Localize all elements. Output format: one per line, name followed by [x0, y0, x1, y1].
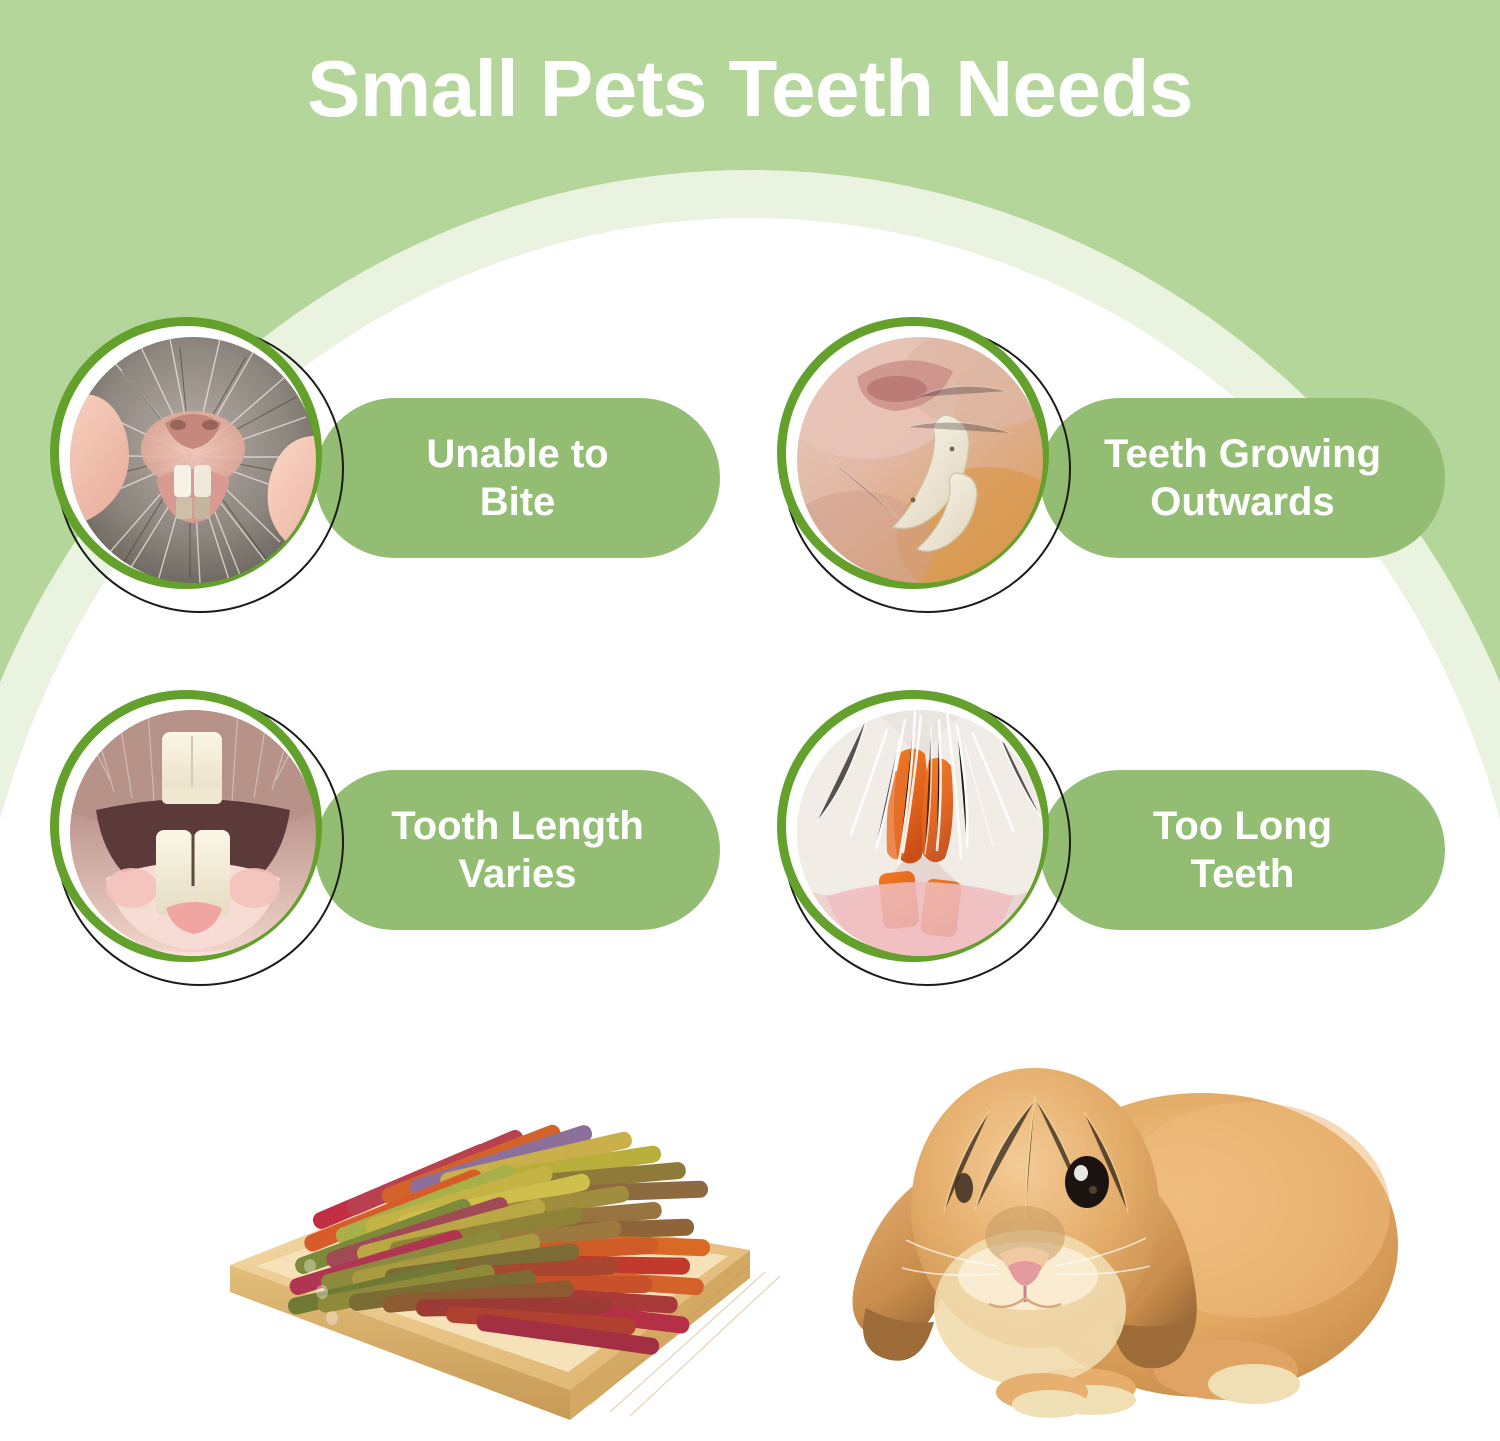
lop-eared-rabbit-photo — [830, 1040, 1420, 1435]
rodent-closed-mouth-teeth-photo — [70, 337, 316, 583]
feature-label-pill-teeth-growing-outwards: Teeth Growing Outwards — [1040, 398, 1445, 558]
feature-label-pill-tooth-length-varies: Tooth Length Varies — [315, 770, 720, 930]
feature-label-text: Tooth Length Varies — [373, 802, 662, 898]
feature-label-pill-unable-to-bite: Unable to Bite — [315, 398, 720, 558]
feature-photo-tooth-length-varies — [48, 688, 348, 988]
feature-label-pill-too-long-teeth: Too Long Teeth — [1040, 770, 1445, 930]
chew-sticks-on-wooden-tray-photo — [190, 1060, 800, 1430]
feature-photo-unable-to-bite — [48, 315, 348, 615]
feature-label-text: Teeth Growing Outwards — [1086, 430, 1399, 526]
orange-overgrown-teeth-photo — [797, 710, 1043, 956]
feature-label-text: Unable to Bite — [408, 430, 626, 526]
overgrown-curved-incisors-photo — [797, 337, 1043, 583]
page-title: Small Pets Teeth Needs — [0, 46, 1500, 132]
uneven-incisor-length-photo — [70, 710, 316, 956]
infographic-page: Small Pets Teeth Needs Unable to Bite — [0, 0, 1500, 1441]
feature-photo-too-long-teeth — [775, 688, 1075, 988]
feature-label-text: Too Long Teeth — [1135, 802, 1350, 898]
feature-photo-teeth-growing-outwards — [775, 315, 1075, 615]
